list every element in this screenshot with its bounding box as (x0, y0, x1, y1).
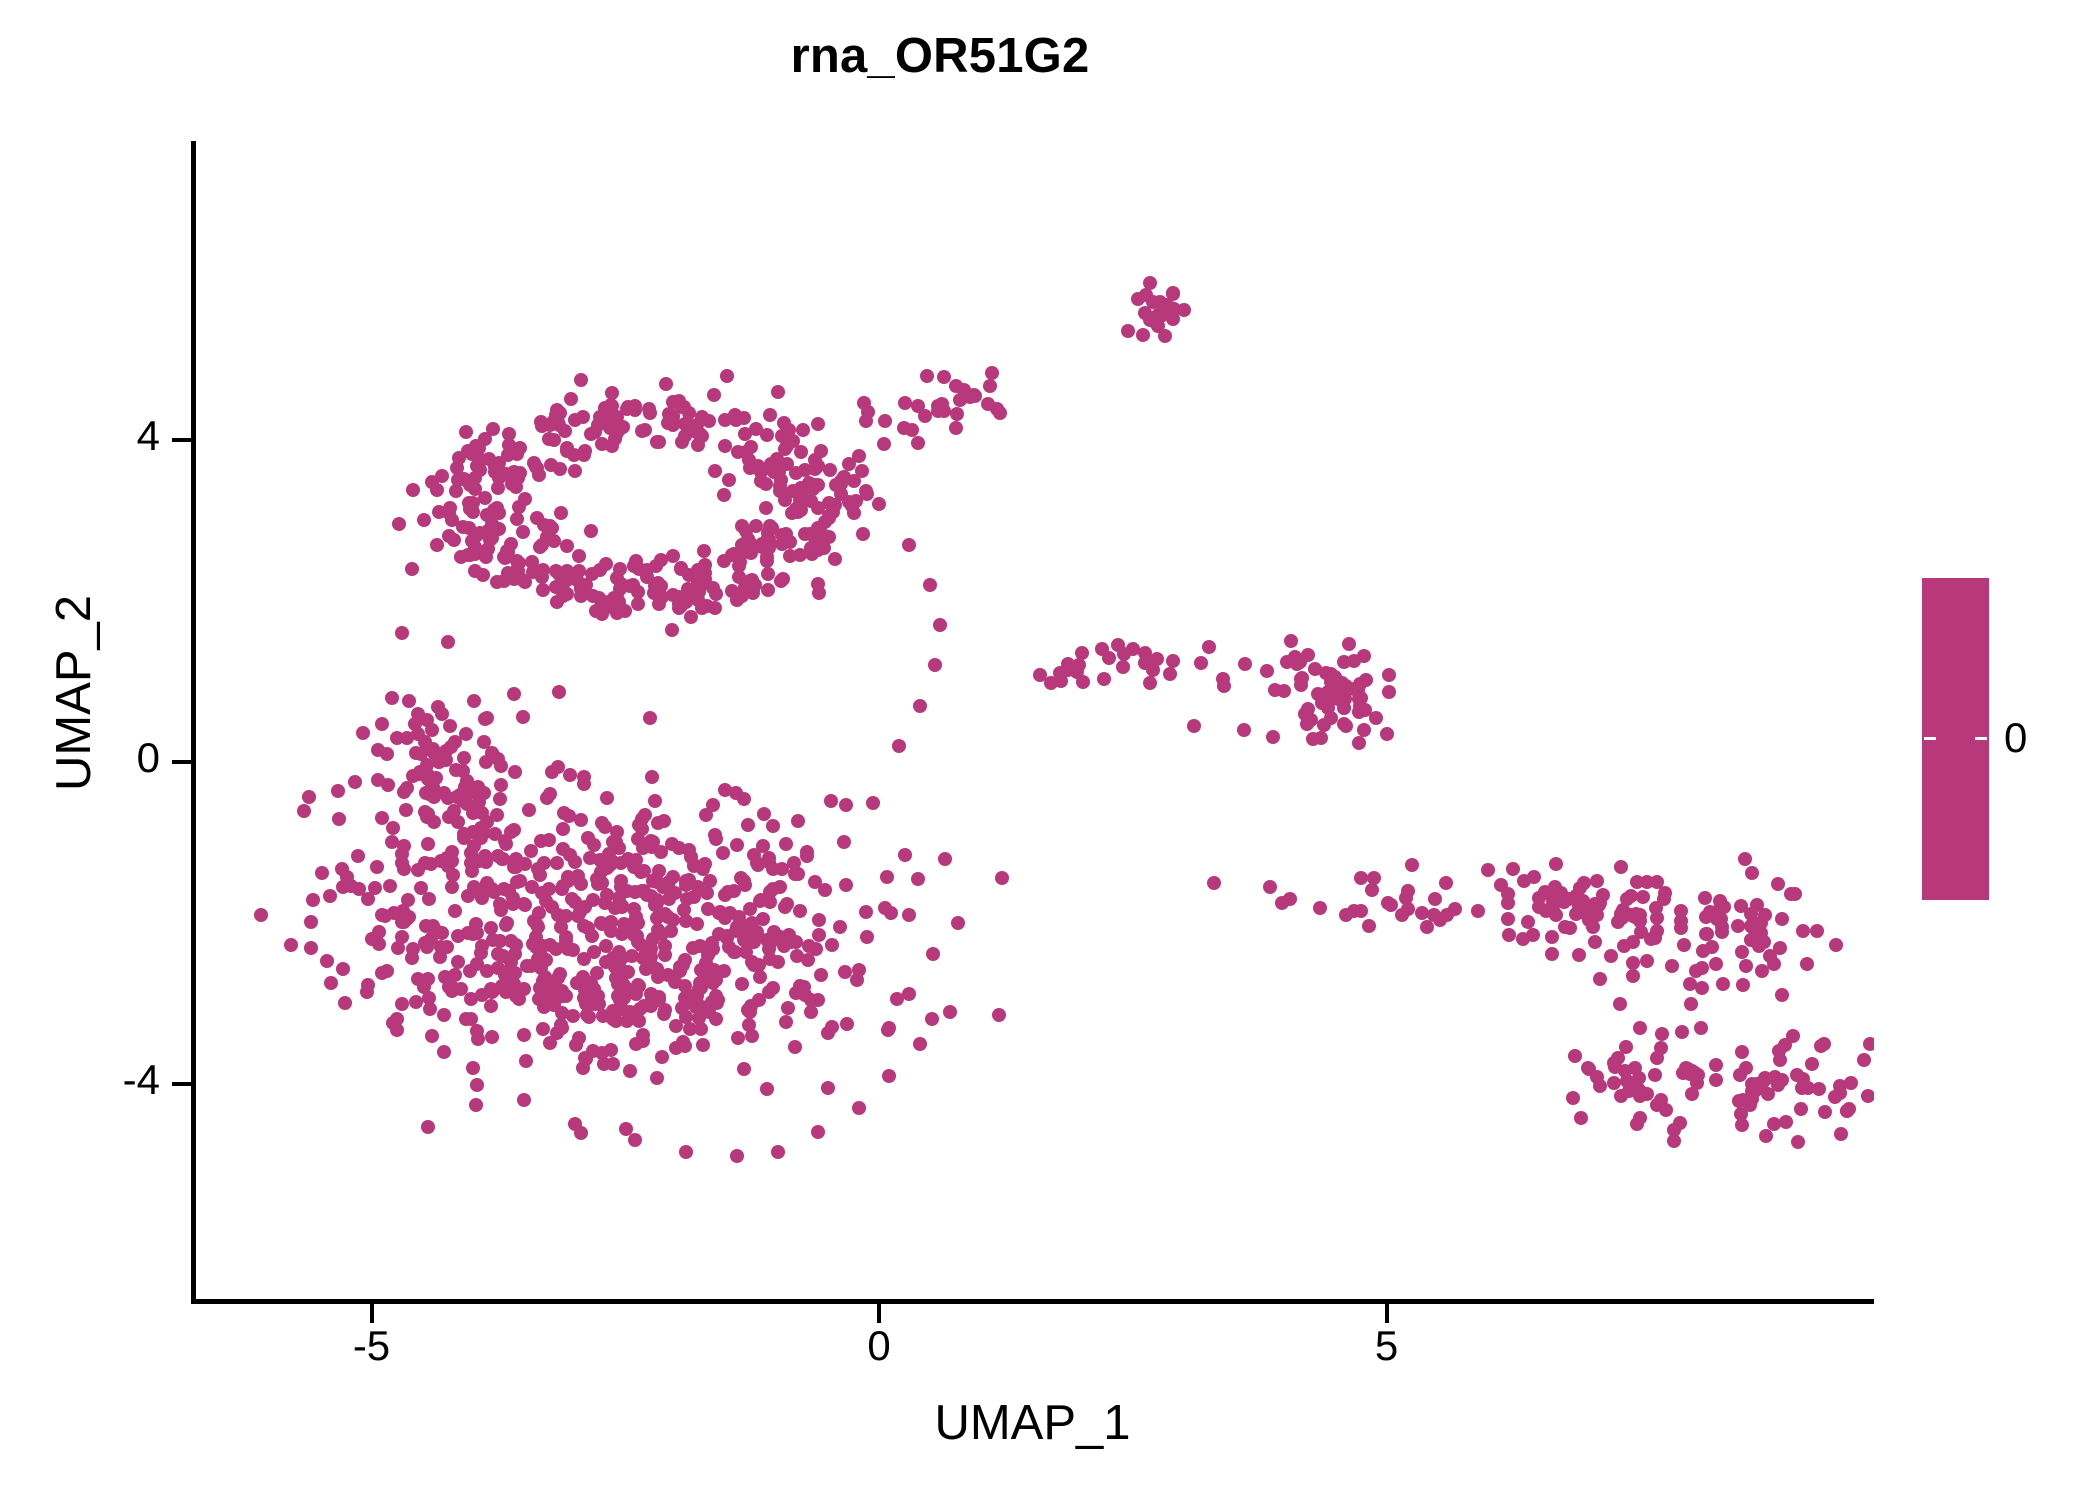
scatter-point (693, 939, 707, 953)
scatter-point (1648, 1068, 1662, 1082)
scatter-point (840, 1017, 854, 1031)
scatter-point (1324, 711, 1338, 725)
scatter-point (574, 877, 588, 891)
scatter-point (1745, 866, 1759, 880)
scatter-point (640, 888, 654, 902)
scatter-point (519, 1054, 533, 1068)
scatter-point (1237, 723, 1251, 737)
scatter-point (1657, 892, 1671, 906)
scatter-point (1674, 904, 1688, 918)
scatter-point (493, 792, 507, 806)
scatter-point (1143, 676, 1157, 690)
scatter-point (821, 1081, 835, 1095)
scatter-point (763, 408, 777, 422)
scatter-point (419, 919, 433, 933)
scatter-point (1607, 1076, 1621, 1090)
scatter-point (434, 940, 448, 954)
scatter-point (652, 864, 666, 878)
scatter-point (1743, 1098, 1757, 1112)
scatter-point (1369, 711, 1383, 725)
scatter-point (600, 791, 614, 805)
scatter-point (443, 501, 457, 515)
scatter-point (516, 525, 530, 539)
scatter-point (568, 1117, 582, 1131)
scatter-point (380, 747, 394, 761)
scatter-point (1352, 736, 1366, 750)
scatter-point (562, 809, 576, 823)
scatter-point (1568, 1049, 1582, 1063)
scatter-point (1757, 935, 1771, 949)
scatter-point (898, 396, 912, 410)
scatter-point (385, 691, 399, 705)
scatter-point (995, 871, 1009, 885)
scatter-point (788, 867, 802, 881)
scatter-point (1566, 1091, 1580, 1105)
scatter-point (859, 905, 873, 919)
scatter-point (391, 941, 405, 955)
scatter-point (1532, 900, 1546, 914)
colorbar-tick-label: 0 (2004, 714, 2027, 762)
scatter-point (555, 1006, 569, 1020)
scatter-point (585, 929, 599, 943)
scatter-point (1111, 638, 1125, 652)
x-tick-mark (1385, 1304, 1389, 1323)
scatter-point (1150, 652, 1164, 666)
scatter-point (484, 999, 498, 1013)
scatter-point (837, 835, 851, 849)
scatter-point (652, 597, 666, 611)
scatter-point (494, 759, 508, 773)
scatter-point (1633, 1021, 1647, 1035)
scatter-point (315, 866, 329, 880)
scatter-point (380, 964, 394, 978)
scatter-point (568, 413, 582, 427)
scatter-point (360, 985, 374, 999)
scatter-point (727, 884, 741, 898)
scatter-point (1801, 1081, 1815, 1095)
scatter-point (983, 379, 997, 393)
scatter-point (1775, 1073, 1789, 1087)
scatter-point (465, 864, 479, 878)
x-axis-line (191, 1299, 1874, 1304)
scatter-point (1786, 1029, 1800, 1043)
scatter-point (302, 790, 316, 804)
colorbar-legend: 0 (1922, 578, 2100, 908)
scatter-point (636, 1028, 650, 1042)
scatter-point (405, 562, 419, 576)
scatter-point (750, 925, 764, 939)
scatter-point (365, 932, 379, 946)
scatter-point (902, 908, 916, 922)
scatter-point (1342, 637, 1356, 651)
scatter-point (1481, 863, 1495, 877)
scatter-point (320, 954, 334, 968)
scatter-point (756, 912, 770, 926)
scatter-point (1579, 907, 1593, 921)
scatter-point (1339, 679, 1353, 693)
scatter-point (880, 870, 894, 884)
scatter-point (817, 541, 831, 555)
scatter-point (518, 898, 532, 912)
scatter-point (839, 878, 853, 892)
scatter-point (655, 1050, 669, 1064)
scatter-point (628, 1133, 642, 1147)
scatter-point (925, 1012, 939, 1026)
scatter-point (666, 913, 680, 927)
scatter-point (1863, 1037, 1874, 1051)
scatter-point (771, 385, 785, 399)
scatter-point (324, 976, 338, 990)
scatter-point (708, 464, 722, 478)
scatter-point (533, 540, 547, 554)
scatter-point (1131, 292, 1145, 306)
scatter-point (761, 583, 775, 597)
scatter-point (545, 521, 559, 535)
scatter-point (1654, 1041, 1668, 1055)
scatter-point (435, 926, 449, 940)
scatter-point (572, 1031, 586, 1045)
scatter-point (402, 694, 416, 708)
scatter-point (779, 837, 793, 851)
scatter-point (1794, 1102, 1808, 1116)
scatter-point (390, 731, 404, 745)
scatter-point (587, 982, 601, 996)
scatter-point (766, 981, 780, 995)
scatter-point (568, 464, 582, 478)
scatter-point (577, 952, 591, 966)
scatter-point (1695, 981, 1709, 995)
scatter-point (1665, 959, 1679, 973)
scatter-point (697, 544, 711, 558)
scatter-point (684, 610, 698, 624)
scatter-point (507, 687, 521, 701)
scatter-point (777, 416, 791, 430)
scatter-point (1739, 1061, 1753, 1075)
scatter-point (720, 369, 734, 383)
scatter-point (479, 755, 493, 769)
scatter-point (1709, 957, 1723, 971)
scatter-point (1339, 719, 1353, 733)
scatter-point (1097, 672, 1111, 686)
scatter-point (812, 913, 826, 927)
scatter-point (696, 1038, 710, 1052)
scatter-point (728, 945, 742, 959)
scatter-point (1613, 997, 1627, 1011)
scatter-point (551, 971, 565, 985)
scatter-point (430, 538, 444, 552)
scatter-point (1562, 892, 1576, 906)
scatter-point (556, 842, 570, 856)
scatter-point (690, 917, 704, 931)
scatter-point (1275, 896, 1289, 910)
scatter-point (1698, 891, 1712, 905)
scatter-point (494, 903, 508, 917)
scatter-point (825, 1020, 839, 1034)
scatter-point (1700, 927, 1714, 941)
scatter-point (730, 838, 744, 852)
scatter-point (577, 448, 591, 462)
scatter-point (1143, 276, 1157, 290)
scatter-point (662, 892, 676, 906)
scatter-point (491, 961, 505, 975)
scatter-point (392, 517, 406, 531)
scatter-point (443, 719, 457, 733)
scatter-point (395, 847, 409, 861)
scatter-point (691, 593, 705, 607)
scatter-point (1745, 1077, 1759, 1091)
scatter-point (1650, 911, 1664, 925)
colorbar-tick-right (1975, 737, 1987, 740)
scatter-point (469, 1098, 483, 1112)
scatter-point (1773, 941, 1787, 955)
scatter-point (1630, 1117, 1644, 1131)
scatter-point (673, 960, 687, 974)
scatter-point (1694, 1021, 1708, 1035)
scatter-point (878, 414, 892, 428)
scatter-point (1177, 303, 1191, 317)
scatter-point (554, 506, 568, 520)
scatter-point (1207, 876, 1221, 890)
scatter-point (381, 778, 395, 792)
scatter-point (540, 791, 554, 805)
scatter-point (338, 996, 352, 1010)
scatter-point (356, 726, 370, 740)
scatter-point (1633, 1084, 1647, 1098)
scatter-point (824, 794, 838, 808)
scatter-point (466, 785, 480, 799)
scatter-point (778, 900, 792, 914)
scatter-point (1593, 1079, 1607, 1093)
scatter-point (486, 422, 500, 436)
scatter-point (490, 808, 504, 822)
scatter-point (584, 524, 598, 538)
scatter-point (1501, 912, 1515, 926)
scatter-point (672, 841, 686, 855)
scatter-point (537, 856, 551, 870)
scatter-point (450, 461, 464, 475)
scatter-point (1684, 997, 1698, 1011)
scatter-point (614, 577, 628, 591)
scatter-point (422, 892, 436, 906)
scatter-point (825, 938, 839, 952)
scatter-point (1365, 883, 1379, 897)
scatter-point (421, 1120, 435, 1134)
scatter-point (405, 951, 419, 965)
scatter-point (1630, 875, 1644, 889)
scatter-point (796, 423, 810, 437)
scatter-point (595, 437, 609, 451)
scatter-point (304, 941, 318, 955)
scatter-point (508, 765, 522, 779)
scatter-point (763, 895, 777, 909)
scatter-point (1527, 870, 1541, 884)
scatter-point (884, 906, 898, 920)
scatter-point (839, 798, 853, 812)
scatter-point (1076, 675, 1090, 689)
scatter-point (386, 1016, 400, 1030)
scatter-point (709, 832, 723, 846)
scatter-point (613, 562, 627, 576)
scatter-point (1685, 1087, 1699, 1101)
scatter-point (1138, 306, 1152, 320)
scatter-point (918, 409, 932, 423)
scatter-point (464, 846, 478, 860)
scatter-point (614, 856, 628, 870)
scatter-point (491, 849, 505, 863)
scatter-point (1502, 928, 1516, 942)
scatter-point (933, 618, 947, 632)
scatter-point (992, 1008, 1006, 1022)
scatter-point (375, 717, 389, 731)
scatter-point (406, 483, 420, 497)
scatter-point (556, 822, 570, 836)
scatter-point (1650, 875, 1664, 889)
scatter-point (1614, 860, 1628, 874)
scatter-point (1471, 904, 1485, 918)
scatter-point (444, 740, 458, 754)
scatter-point (574, 813, 588, 827)
scatter-point (420, 940, 434, 954)
scatter-point (589, 604, 603, 618)
scatter-point (1352, 705, 1366, 719)
scatter-point (1260, 664, 1274, 678)
scatter-point (812, 928, 826, 942)
scatter-point (1121, 324, 1135, 338)
scatter-point (430, 483, 444, 497)
scatter-point (898, 848, 912, 862)
scatter-point (1675, 1025, 1689, 1039)
scatter-point (760, 1082, 774, 1096)
scatter-point (1263, 880, 1277, 894)
scatter-point (1324, 675, 1338, 689)
scatter-point (1593, 972, 1607, 986)
scatter-plot-figure: rna_OR51G2 40-4 -505 UMAP_2 UMAP_1 0 (0, 0, 2100, 1500)
scatter-point (778, 442, 792, 456)
scatter-point (597, 1057, 611, 1071)
scatter-point (855, 464, 869, 478)
scatter-point (1735, 945, 1749, 959)
scatter-point (823, 463, 837, 477)
scatter-point (593, 563, 607, 577)
scatter-point (514, 572, 528, 586)
scatter-point (1382, 668, 1396, 682)
scatter-point (623, 1064, 637, 1078)
scatter-point (254, 908, 268, 922)
scatter-point (638, 808, 652, 822)
scatter-point (598, 401, 612, 415)
scatter-point (1294, 672, 1308, 686)
scatter-point (725, 548, 739, 562)
scatter-point (674, 561, 688, 575)
scatter-point (395, 626, 409, 640)
scatter-point (866, 796, 880, 810)
scatter-point (766, 819, 780, 833)
scatter-point (437, 1045, 451, 1059)
scatter-point (1791, 1135, 1805, 1149)
scatter-point (457, 831, 471, 845)
scatter-point (1238, 657, 1252, 671)
scatter-point (902, 538, 916, 552)
scatter-point (1739, 959, 1753, 973)
scatter-point (595, 816, 609, 830)
scatter-point (1136, 328, 1150, 342)
scatter-point (559, 989, 573, 1003)
scatter-point (1558, 920, 1572, 934)
scatter-point (1709, 1073, 1723, 1087)
scatter-point (459, 425, 473, 439)
scatter-point (666, 870, 680, 884)
scatter-point (928, 658, 942, 672)
scatter-point (722, 473, 736, 487)
scatter-point (1755, 964, 1769, 978)
scatter-point (1075, 646, 1089, 660)
scatter-point (1588, 935, 1602, 949)
scatter-point (332, 812, 346, 826)
scatter-point (683, 1022, 697, 1036)
scatter-point (705, 936, 719, 950)
y-tick-mark (172, 760, 191, 764)
scatter-point (478, 712, 492, 726)
scatter-point (606, 1012, 620, 1026)
scatter-point (636, 951, 650, 965)
scatter-point (539, 894, 553, 908)
scatter-point (1861, 1089, 1874, 1103)
scatter-point (1735, 1118, 1749, 1132)
scatter-point (1677, 938, 1691, 952)
scatter-point (892, 739, 906, 753)
scatter-point (1655, 1027, 1669, 1041)
scatter-point (709, 587, 723, 601)
scatter-point (638, 423, 652, 437)
scatter-point (1545, 930, 1559, 944)
scatter-point (543, 938, 557, 952)
scatter-point (802, 939, 816, 953)
scatter-point (751, 858, 765, 872)
y-tick-mark (172, 438, 191, 442)
scatter-point (804, 1005, 818, 1019)
scatter-point (708, 601, 722, 615)
scatter-point (1828, 1090, 1842, 1104)
scatter-point (850, 973, 864, 987)
scatter-point (459, 727, 473, 741)
scatter-point (395, 997, 409, 1011)
scatter-point (1735, 1045, 1749, 1059)
scatter-point (1314, 731, 1328, 745)
scatter-point (1362, 919, 1376, 933)
scatter-point (1151, 319, 1165, 333)
scatter-point (951, 916, 965, 930)
scatter-point (580, 1008, 594, 1022)
scatter-point (375, 908, 389, 922)
scatter-point (860, 930, 874, 944)
scatter-point (1840, 1104, 1854, 1118)
scatter-point (1857, 1053, 1871, 1067)
scatter-point (524, 844, 538, 858)
scatter-point (859, 414, 873, 428)
scatter-point (1829, 938, 1843, 952)
scatter-point (1313, 901, 1327, 915)
scatter-point (783, 549, 797, 563)
scatter-point (1574, 1111, 1588, 1125)
scatter-point (1626, 956, 1640, 970)
scatter-point (572, 549, 586, 563)
scatter-point (1187, 719, 1201, 733)
scatter-point (605, 386, 619, 400)
scatter-point (990, 402, 1004, 416)
scatter-point (417, 513, 431, 527)
scatter-point (610, 825, 624, 839)
scatter-point (448, 968, 462, 982)
